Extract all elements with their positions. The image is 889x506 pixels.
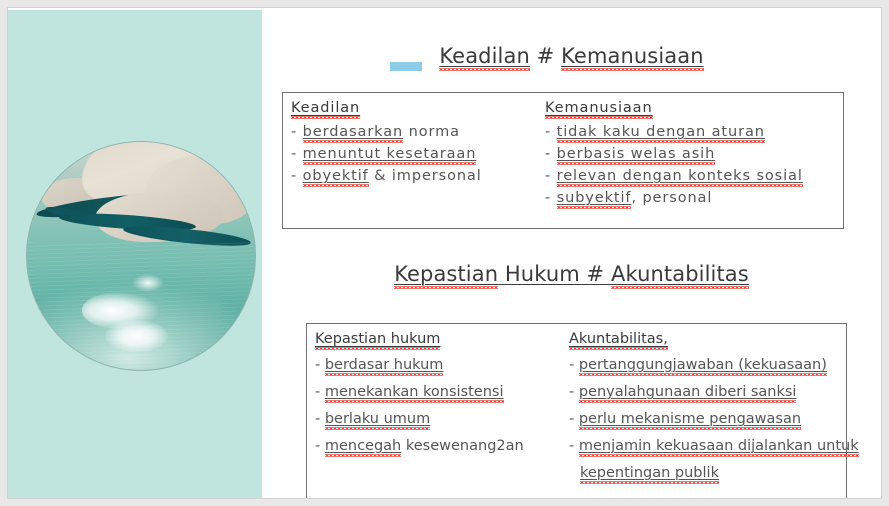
bullet-marker: - [545,190,551,206]
bullet-text-underlined: perlu mekanisme pengawasan [579,411,801,430]
list-item: - mencegah kesewenang2an [315,433,569,460]
bullet-text-underlined: menuntut kesetaraan [303,146,477,165]
section-1-column-left: Keadilan - berdasarkan norma - menuntut … [291,93,547,187]
bullet-marker: - [291,124,297,140]
section-2-heading-part2: Akuntabilitas [611,262,749,289]
bullet-marker: - [569,438,574,454]
bullet-marker: - [545,124,551,140]
section-2-columns: Kepastian hukum - berdasar hukum - menek… [307,324,846,498]
bullet-text-underlined: mencegah [325,438,401,457]
slide-content: Keadilan # Kemanusiaan Keadilan - berdas… [262,8,881,498]
foam-highlight-2 [105,320,169,352]
list-item: - relevan dengan konteks sosial [545,165,843,187]
section-2-heading: Kepastian Hukum # Akuntabilitas [262,262,881,286]
bullet-marker: - [291,146,297,162]
bullet-text-underlined: menjamin kekuasaan dijalankan untuk [579,438,859,457]
list-item: - berlaku umum [315,406,569,433]
bullet-text-underlined: menekankan konsistensi [325,384,504,403]
column-title: Keadilan [291,100,360,119]
bullet-text-plain: & impersonal [369,168,482,184]
list-item: - berbasis welas asih [545,143,843,165]
column-title: Kemanusiaan [545,100,653,119]
list-item: - menekankan konsistensi [315,379,569,406]
bullet-text-underlined: pertanggungjawaban (kekuasaan) [579,357,827,376]
photo-inner [27,142,255,370]
section-1-heading-separator: # [530,44,561,68]
list-item: - penyalahgunaan diberi sanksi [569,379,845,406]
left-image-panel [8,10,262,498]
section-2-box: Kepastian hukum - berdasar hukum - menek… [306,323,847,498]
bullet-text-underlined: berdasarkan [303,124,403,143]
list-item: - menjamin kekuasaan dijalankan untuk [569,433,845,460]
circular-photo[interactable] [27,142,255,370]
bullet-text-underlined: berlaku umum [325,411,430,430]
list-item: - subyektif, personal [545,187,843,209]
bullet-text-plain: , personal [631,190,712,206]
section-1-columns: Keadilan - berdasarkan norma - menuntut … [283,93,843,228]
bullet-marker: - [569,411,574,427]
bullet-text-wrapped: kepentingan publik [580,465,719,484]
section-1-column-right: Kemanusiaan - tidak kaku dengan aturan -… [545,93,843,209]
bullet-marker: - [315,411,320,427]
list-item: - obyektif & impersonal [291,165,547,187]
section-2-column-right: Akuntabilitas, - pertanggungjawaban (kek… [569,324,845,487]
list-item: - tidak kaku dengan aturan [545,121,843,143]
bullet-marker: - [545,168,551,184]
list-item: - menuntut kesetaraan [291,143,547,165]
bullet-text-underlined: penyalahgunaan diberi sanksi [579,384,797,403]
bullet-text-plain: kesewenang2an [401,438,523,454]
bullet-text-underlined: subyektif [557,190,632,209]
bullet-text-underlined: berbasis welas asih [557,146,716,165]
bullet-marker: - [545,146,551,162]
column-title: Akuntabilitas, [569,331,668,350]
section-2-column-left: Kepastian hukum - berdasar hukum - menek… [315,324,569,460]
bullet-text-underlined: berdasar hukum [325,357,444,376]
list-item: - berdasarkan norma [291,121,547,143]
bullet-marker: - [315,357,320,373]
section-1-box: Keadilan - berdasarkan norma - menuntut … [282,92,844,229]
list-item: - pertanggungjawaban (kekuasaan) [569,352,845,379]
bullet-marker: - [291,168,297,184]
presentation-canvas: Keadilan # Kemanusiaan Keadilan - berdas… [0,0,889,506]
section-1-heading: Keadilan # Kemanusiaan [262,44,881,68]
bullet-marker: - [315,384,320,400]
column-title: Kepastian hukum [315,331,440,350]
section-2-heading-separator: Hukum # [498,262,611,286]
bullet-marker: - [569,384,574,400]
section-1-heading-part1: Keadilan [439,44,530,71]
bullet-marker: - [569,357,574,373]
list-item: - perlu mekanisme pengawasan [569,406,845,433]
list-item-wrap: kepentingan publik [569,460,845,487]
list-item: - berdasar hukum [315,352,569,379]
bullet-text-underlined: obyektif [303,168,369,187]
section-1-heading-part2: Kemanusiaan [561,44,704,71]
slide: Keadilan # Kemanusiaan Keadilan - berdas… [8,8,881,498]
section-2-heading-part1: Kepastian [394,262,498,289]
bullet-text-plain: norma [403,124,460,140]
bullet-marker: - [315,438,320,454]
bullet-text-underlined: tidak kaku dengan aturan [557,124,765,143]
bullet-text-underlined: relevan dengan konteks sosial [557,168,803,187]
